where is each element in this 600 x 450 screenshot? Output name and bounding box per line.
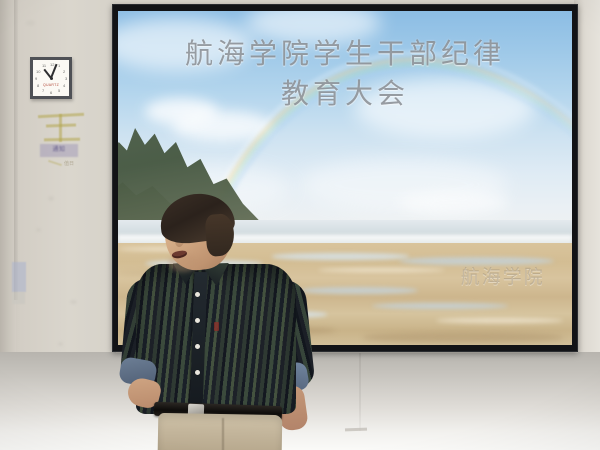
shirt-button bbox=[195, 318, 200, 323]
clock-numeral: 2 bbox=[63, 69, 65, 74]
clock-center-pin bbox=[50, 77, 53, 80]
clock-numeral: 9 bbox=[35, 76, 37, 81]
shirt-button bbox=[195, 292, 200, 297]
scene-photo: 12 1 2 3 4 5 6 7 8 9 10 11 QUARTZ 通知 值日 bbox=[0, 0, 600, 450]
wall-smudge bbox=[26, 20, 35, 26]
wall-smudge bbox=[36, 228, 41, 232]
shirt-button bbox=[195, 344, 200, 349]
wall-corner-edge bbox=[14, 0, 18, 300]
clock-numeral: 5 bbox=[58, 88, 60, 93]
clock-numeral: 1 bbox=[58, 63, 60, 68]
wet-sand bbox=[363, 332, 563, 342]
board-seam-line bbox=[359, 353, 361, 431]
presenter-person bbox=[118, 196, 328, 450]
wall-smudge bbox=[48, 196, 54, 201]
cloud bbox=[399, 191, 508, 214]
sand-streak bbox=[318, 268, 445, 272]
clock-numeral: 10 bbox=[36, 69, 40, 74]
wall-smudge bbox=[58, 342, 63, 346]
wall-clock: 12 1 2 3 4 5 6 7 8 9 10 11 QUARTZ bbox=[30, 57, 72, 99]
cloud bbox=[354, 78, 536, 138]
tide-pool bbox=[372, 303, 508, 309]
clock-numeral: 7 bbox=[42, 88, 44, 93]
clock-face: 12 1 2 3 4 5 6 7 8 9 10 11 QUARTZ bbox=[33, 60, 69, 96]
clock-numeral: 3 bbox=[65, 76, 67, 81]
wall-sticker bbox=[12, 262, 26, 292]
tide-pool bbox=[399, 257, 553, 265]
shirt-pen-mark bbox=[214, 322, 219, 331]
wall-smudge bbox=[70, 300, 77, 304]
shirt-button bbox=[195, 370, 200, 375]
clock-brand-text: QUARTZ bbox=[33, 83, 69, 87]
trousers bbox=[158, 413, 283, 450]
cloud bbox=[145, 98, 218, 125]
clock-numeral: 11 bbox=[42, 63, 46, 68]
sand-streak bbox=[436, 318, 563, 323]
wall-sticker-secondary bbox=[12, 292, 25, 304]
clock-numeral: 6 bbox=[50, 90, 52, 95]
trouser-crease bbox=[222, 418, 224, 450]
